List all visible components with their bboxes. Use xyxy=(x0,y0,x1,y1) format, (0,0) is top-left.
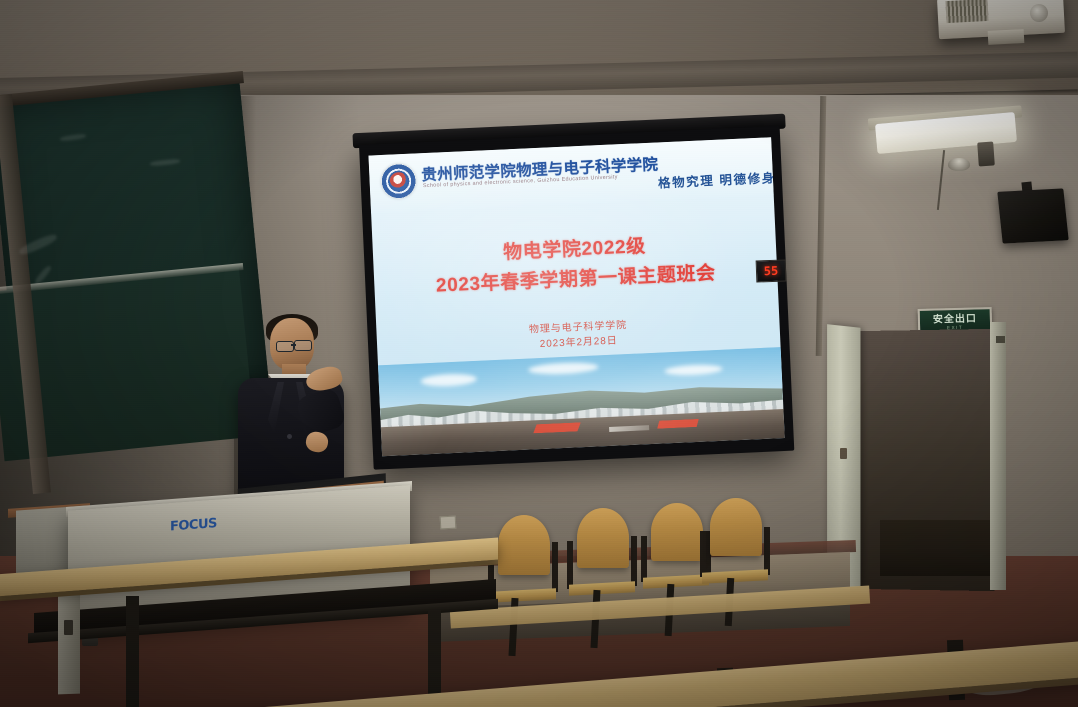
chair-back[interactable] xyxy=(651,503,703,561)
door-jamb xyxy=(990,322,1006,590)
glasses-bridge xyxy=(291,344,296,346)
door-handle[interactable] xyxy=(840,448,847,459)
desk-leg xyxy=(58,584,80,695)
digital-clock: 55 xyxy=(756,259,787,282)
chair-arm xyxy=(631,536,637,586)
wall-socket xyxy=(440,516,457,530)
coat-button xyxy=(287,434,292,439)
projection-screen: 贵州师范学院物理与电子科学学院 School of physics and el… xyxy=(359,126,794,470)
chair-arm xyxy=(700,531,706,577)
dome-light-icon xyxy=(948,158,970,171)
chair-arm xyxy=(764,527,770,575)
clock-value: 55 xyxy=(764,264,779,278)
desk-leg xyxy=(126,596,139,707)
slide-glow xyxy=(368,137,784,456)
exit-sign-label-cn: 安全出口 xyxy=(933,314,977,325)
chair-back[interactable] xyxy=(710,498,762,556)
door-latch xyxy=(996,336,1005,343)
presentation-slide: 贵州师范学院物理与电子科学学院 School of physics and el… xyxy=(368,137,784,456)
projector-mount xyxy=(988,29,1025,45)
chair-arm xyxy=(552,542,558,592)
chair-back[interactable] xyxy=(577,508,629,568)
doorway-steps xyxy=(880,520,992,576)
projector-vent xyxy=(945,0,988,23)
glasses-icon xyxy=(276,341,294,352)
camera-icon xyxy=(977,141,995,166)
desk-latch xyxy=(64,620,73,635)
classroom-photo: 贵州师范学院物理与电子科学学院 School of physics and el… xyxy=(0,0,1078,707)
speaker-icon xyxy=(997,188,1068,243)
chair-arm xyxy=(641,536,647,582)
chair-back[interactable] xyxy=(498,515,550,575)
chair-arm xyxy=(567,541,573,589)
glasses-icon xyxy=(294,340,312,351)
